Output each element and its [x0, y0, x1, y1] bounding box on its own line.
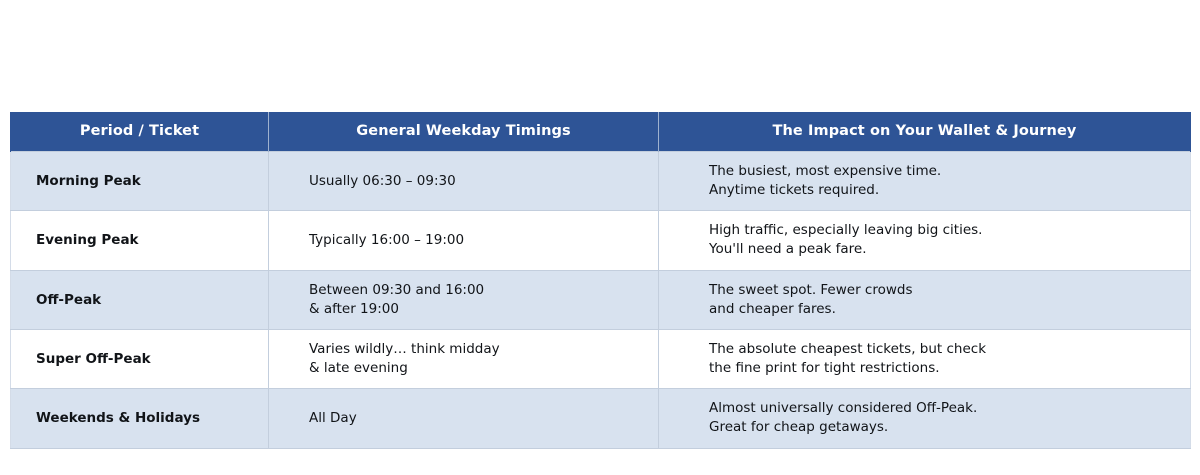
cell-impact: The absolute cheapest tickets, but check… — [659, 329, 1191, 388]
cell-impact-line: High traffic, especially leaving big cit… — [709, 221, 1182, 240]
cell-period: Weekends & Holidays — [11, 389, 269, 448]
cell-timing-line: Usually 06:30 – 09:30 — [309, 172, 650, 191]
cell-period: Evening Peak — [11, 211, 269, 270]
table-header-row: Period / Ticket General Weekday Timings … — [11, 112, 1191, 152]
cell-impact: The sweet spot. Fewer crowds and cheaper… — [659, 270, 1191, 329]
table-row: Weekends & Holidays All Day Almost unive… — [11, 389, 1191, 448]
cell-impact-line: You'll need a peak fare. — [709, 240, 1182, 259]
page-root: Period / Ticket General Weekday Timings … — [0, 0, 1200, 475]
cell-timing-line: All Day — [309, 409, 650, 428]
cell-timing: Typically 16:00 – 19:00 — [269, 211, 659, 270]
table-header: Period / Ticket General Weekday Timings … — [11, 112, 1191, 152]
table-body: Morning Peak Usually 06:30 – 09:30 The b… — [11, 152, 1191, 449]
fare-table-container: Period / Ticket General Weekday Timings … — [10, 112, 1190, 449]
cell-impact-line: Great for cheap getaways. — [709, 418, 1182, 437]
table-row: Morning Peak Usually 06:30 – 09:30 The b… — [11, 152, 1191, 211]
cell-period: Off-Peak — [11, 270, 269, 329]
cell-timing-line: & late evening — [309, 359, 650, 378]
column-header-impact: The Impact on Your Wallet & Journey — [659, 112, 1191, 152]
column-header-timings: General Weekday Timings — [269, 112, 659, 152]
cell-timing: All Day — [269, 389, 659, 448]
fare-periods-table: Period / Ticket General Weekday Timings … — [10, 112, 1191, 449]
cell-timing: Usually 06:30 – 09:30 — [269, 152, 659, 211]
column-header-period: Period / Ticket — [11, 112, 269, 152]
cell-period: Super Off-Peak — [11, 329, 269, 388]
cell-impact-line: and cheaper fares. — [709, 300, 1182, 319]
cell-impact: Almost universally considered Off-Peak. … — [659, 389, 1191, 448]
cell-impact-line: the fine print for tight restrictions. — [709, 359, 1182, 378]
table-row: Off-Peak Between 09:30 and 16:00 & after… — [11, 270, 1191, 329]
cell-timing-line: Varies wildly… think midday — [309, 340, 650, 359]
cell-timing-line: Typically 16:00 – 19:00 — [309, 231, 650, 250]
cell-impact-line: The busiest, most expensive time. — [709, 162, 1182, 181]
cell-period: Morning Peak — [11, 152, 269, 211]
table-row: Super Off-Peak Varies wildly… think midd… — [11, 329, 1191, 388]
cell-impact-line: The absolute cheapest tickets, but check — [709, 340, 1182, 359]
cell-impact: High traffic, especially leaving big cit… — [659, 211, 1191, 270]
cell-impact: The busiest, most expensive time. Anytim… — [659, 152, 1191, 211]
cell-timing: Between 09:30 and 16:00 & after 19:00 — [269, 270, 659, 329]
cell-impact-line: Anytime tickets required. — [709, 181, 1182, 200]
cell-timing-line: Between 09:30 and 16:00 — [309, 281, 650, 300]
cell-impact-line: The sweet spot. Fewer crowds — [709, 281, 1182, 300]
cell-impact-line: Almost universally considered Off-Peak. — [709, 399, 1182, 418]
cell-timing-line: & after 19:00 — [309, 300, 650, 319]
table-row: Evening Peak Typically 16:00 – 19:00 Hig… — [11, 211, 1191, 270]
cell-timing: Varies wildly… think midday & late eveni… — [269, 329, 659, 388]
